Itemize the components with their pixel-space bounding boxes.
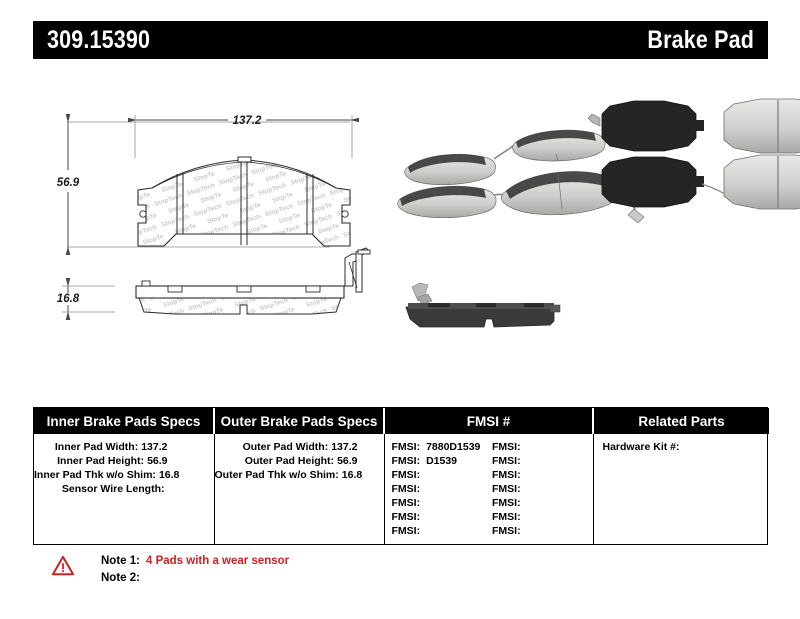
cell-related-parts: Hardware Kit #: bbox=[593, 434, 769, 544]
fmsi-label: FMSI: bbox=[392, 525, 421, 537]
pad-top-view bbox=[138, 157, 350, 246]
dimension-height-label: 56.9 bbox=[57, 177, 80, 189]
note-1-value: 4 Pads with a wear sensor bbox=[140, 555, 289, 567]
fmsi-value bbox=[521, 483, 527, 495]
note-2-label: Note 2: bbox=[101, 572, 140, 584]
fmsi-column-2: FMSI: FMSI: FMSI: FMSI: bbox=[492, 440, 593, 538]
fmsi-label: FMSI: bbox=[492, 497, 521, 509]
fmsi-row: FMSI:7880D1539 bbox=[392, 440, 493, 454]
fmsi-value bbox=[521, 497, 527, 509]
photo-pads-flat bbox=[588, 99, 800, 209]
note-2-value bbox=[140, 572, 146, 584]
part-number: 309.15390 bbox=[47, 28, 150, 53]
header-bar: 309.15390 Brake Pad bbox=[33, 21, 768, 59]
fmsi-value bbox=[521, 469, 527, 481]
fmsi-value: 7880D1539 bbox=[420, 441, 480, 453]
warning-triangle-icon bbox=[52, 555, 74, 577]
fmsi-value bbox=[521, 511, 527, 523]
fmsi-row: FMSI: bbox=[492, 496, 593, 510]
cell-inner-specs: Inner Pad Width:137.2 Inner Pad Height:5… bbox=[34, 434, 214, 544]
fmsi-value bbox=[420, 483, 426, 495]
fmsi-row: FMSI: bbox=[392, 510, 493, 524]
fmsi-label: FMSI: bbox=[492, 483, 521, 495]
brake-pad-drawing-svg: StopTech StopTech bbox=[0, 62, 800, 387]
fmsi-row: FMSI:D1539 bbox=[392, 454, 493, 468]
fmsi-label: FMSI: bbox=[392, 483, 421, 495]
technical-drawing-area: StopTech StopTech bbox=[0, 62, 800, 387]
note-row-1: Note 1:4 Pads with a wear sensor bbox=[101, 553, 289, 570]
fmsi-label: FMSI: bbox=[492, 455, 521, 467]
related-parts-row: Hardware Kit #: bbox=[594, 440, 770, 454]
spec-row: Outer Pad Thk w/o Shim:16.8 bbox=[215, 468, 384, 482]
fmsi-label: FMSI: bbox=[492, 511, 521, 523]
fmsi-label: FMSI: bbox=[392, 511, 421, 523]
column-header-related-parts: Related Parts bbox=[593, 408, 769, 434]
fmsi-row: FMSI: bbox=[492, 440, 593, 454]
photo-pad-profile bbox=[406, 283, 560, 327]
spec-value bbox=[165, 483, 168, 495]
spec-row: Outer Pad Width:137.2 bbox=[215, 440, 384, 454]
fmsi-row: FMSI: bbox=[492, 482, 593, 496]
spec-value: 16.8 bbox=[156, 469, 179, 481]
table-body-row: Inner Pad Width:137.2 Inner Pad Height:5… bbox=[34, 434, 769, 544]
spec-table: Inner Brake Pads Specs Outer Brake Pads … bbox=[33, 407, 768, 545]
fmsi-value bbox=[521, 525, 527, 537]
dimension-width: 137.2 bbox=[136, 115, 351, 127]
note-1-label: Note 1: bbox=[101, 555, 140, 567]
fmsi-label: FMSI: bbox=[392, 469, 421, 481]
fmsi-label: FMSI: bbox=[392, 441, 421, 453]
spec-label: Inner Pad Thk w/o Shim: bbox=[34, 469, 156, 481]
pad-side-view bbox=[136, 248, 370, 314]
spec-value: 56.9 bbox=[144, 455, 167, 467]
fmsi-value bbox=[420, 511, 426, 523]
spec-row: Inner Pad Width:137.2 bbox=[34, 440, 214, 454]
fmsi-row: FMSI: bbox=[392, 482, 493, 496]
spec-label: Outer Pad Height: bbox=[245, 455, 334, 467]
fmsi-value: D1539 bbox=[420, 455, 457, 467]
spec-row: Sensor Wire Length: bbox=[34, 482, 214, 496]
fmsi-row: FMSI: bbox=[492, 510, 593, 524]
column-header-outer-specs: Outer Brake Pads Specs bbox=[214, 408, 384, 434]
column-header-fmsi: FMSI # bbox=[384, 408, 593, 434]
fmsi-label: FMSI: bbox=[492, 441, 521, 453]
notes-section: Note 1:4 Pads with a wear sensor Note 2: bbox=[52, 553, 289, 587]
fmsi-row: FMSI: bbox=[392, 524, 493, 538]
fmsi-row: FMSI: bbox=[492, 524, 593, 538]
fmsi-row: FMSI: bbox=[392, 468, 493, 482]
fmsi-label: FMSI: bbox=[392, 455, 421, 467]
spec-value: 137.2 bbox=[138, 441, 167, 453]
fmsi-value bbox=[521, 441, 527, 453]
fmsi-label: FMSI: bbox=[492, 469, 521, 481]
spec-row: Inner Pad Thk w/o Shim:16.8 bbox=[34, 468, 214, 482]
spec-label: Outer Pad Thk w/o Shim: bbox=[215, 469, 339, 481]
cell-outer-specs: Outer Pad Width:137.2 Outer Pad Height:5… bbox=[214, 434, 384, 544]
spec-value: 16.8 bbox=[339, 469, 362, 481]
fmsi-row: FMSI: bbox=[392, 496, 493, 510]
fmsi-value bbox=[420, 525, 426, 537]
dimension-height: 56.9 bbox=[57, 122, 80, 247]
product-type: Brake Pad bbox=[647, 28, 754, 53]
spec-value: 137.2 bbox=[328, 441, 357, 453]
dimension-thickness-label: 16.8 bbox=[57, 293, 80, 305]
spec-row: Inner Pad Height:56.9 bbox=[34, 454, 214, 468]
note-row-2: Note 2: bbox=[101, 570, 289, 587]
related-parts-label: Hardware Kit #: bbox=[603, 441, 680, 453]
spec-row: Outer Pad Height:56.9 bbox=[215, 454, 384, 468]
spec-label: Inner Pad Width: bbox=[55, 441, 138, 453]
dimension-width-label: 137.2 bbox=[233, 115, 262, 127]
fmsi-label: FMSI: bbox=[392, 497, 421, 509]
cell-fmsi: FMSI:7880D1539 FMSI:D1539 FMSI: FMSI: bbox=[384, 434, 593, 544]
fmsi-value bbox=[420, 497, 426, 509]
spec-label: Outer Pad Width: bbox=[243, 441, 329, 453]
fmsi-row: FMSI: bbox=[492, 454, 593, 468]
fmsi-value bbox=[521, 455, 527, 467]
dimension-thickness: 16.8 bbox=[57, 286, 115, 312]
table-header-row: Inner Brake Pads Specs Outer Brake Pads … bbox=[34, 408, 769, 434]
column-header-inner-specs: Inner Brake Pads Specs bbox=[34, 408, 214, 434]
spec-label: Sensor Wire Length: bbox=[62, 483, 165, 495]
spec-label: Inner Pad Height: bbox=[57, 455, 144, 467]
spec-value: 56.9 bbox=[334, 455, 357, 467]
fmsi-column-1: FMSI:7880D1539 FMSI:D1539 FMSI: FMSI: bbox=[392, 440, 493, 538]
fmsi-label: FMSI: bbox=[492, 525, 521, 537]
fmsi-row: FMSI: bbox=[492, 468, 593, 482]
fmsi-value bbox=[420, 469, 426, 481]
